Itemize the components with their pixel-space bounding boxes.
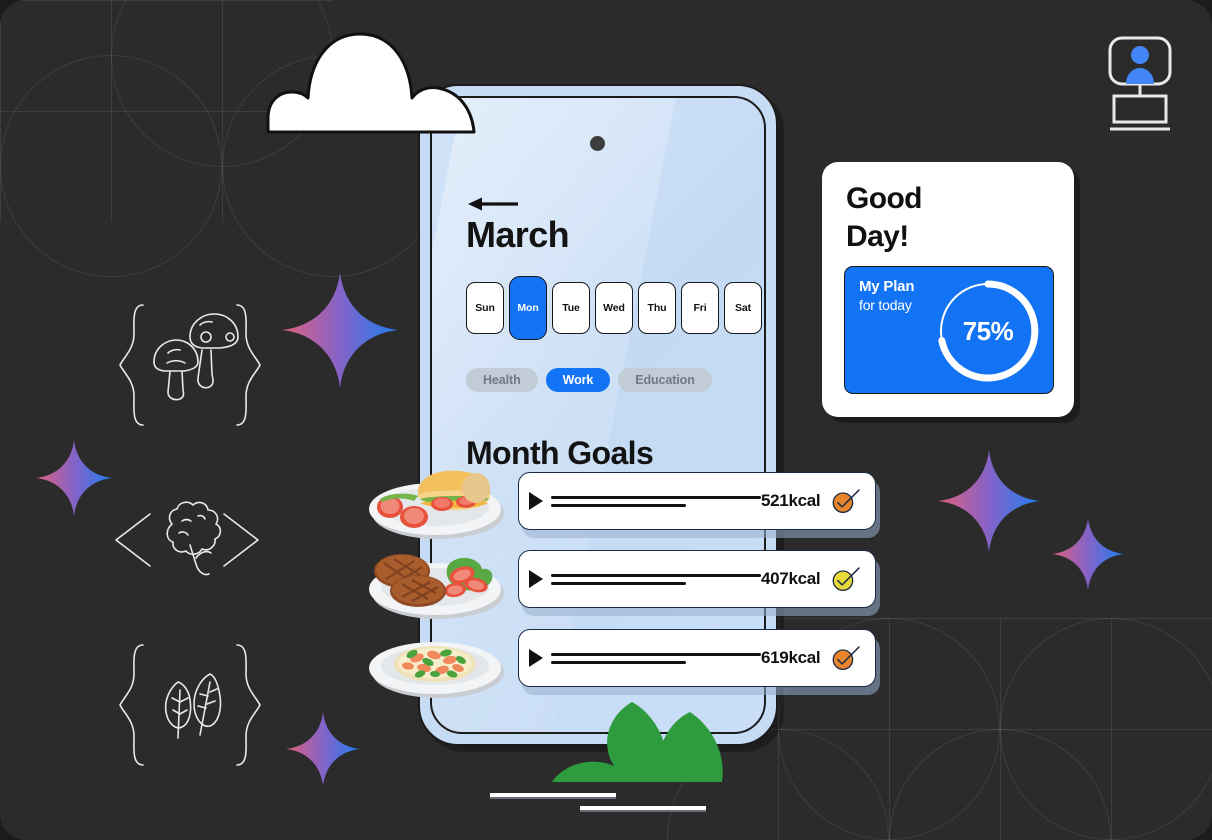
placeholder-line xyxy=(551,661,686,664)
pasta-plate-icon xyxy=(362,622,508,702)
day-chip-sat[interactable]: Sat xyxy=(724,282,762,334)
play-icon[interactable] xyxy=(529,570,543,588)
greeting-line-1: Good xyxy=(846,180,922,218)
goal-text-placeholder xyxy=(551,648,761,669)
sparkle-icon xyxy=(286,712,360,786)
cloud-shape xyxy=(262,28,494,140)
day-chip-tue[interactable]: Tue xyxy=(552,282,590,334)
progress-ring: 75% xyxy=(929,270,1047,394)
sparkle-icon xyxy=(938,450,1040,552)
good-day-card: Good Day! My Plan for today 75% xyxy=(822,162,1074,417)
day-chip-sun[interactable]: Sun xyxy=(466,282,504,334)
bottom-line xyxy=(580,806,706,810)
sparkle-icon xyxy=(36,440,112,516)
placeholder-line xyxy=(551,653,761,656)
goal-row[interactable]: 521kcal xyxy=(518,472,876,530)
day-chip-mon[interactable]: Mon xyxy=(509,276,547,340)
plan-title: My Plan xyxy=(859,278,914,297)
grid-circle xyxy=(889,729,1111,840)
grid-circle xyxy=(0,55,222,277)
check-circle-icon[interactable] xyxy=(832,564,861,594)
leaf-cluster-shape xyxy=(550,694,750,790)
illustration-canvas: March Sun Mon Tue Wed Thu Fri Sat Health… xyxy=(0,0,1212,840)
day-selector: Sun Mon Tue Wed Thu Fri Sat xyxy=(466,276,762,340)
greeting-text: Good Day! xyxy=(846,180,922,256)
category-filter: Health Work Education xyxy=(466,368,712,392)
back-arrow-icon[interactable] xyxy=(468,194,520,214)
check-circle-icon[interactable] xyxy=(832,486,861,516)
goal-text-placeholder xyxy=(551,569,761,590)
category-chip-education[interactable]: Education xyxy=(618,368,712,392)
play-icon[interactable] xyxy=(529,492,543,510)
broccoli-icon xyxy=(112,488,278,592)
category-chip-health[interactable]: Health xyxy=(466,368,538,392)
progress-percent-label: 75% xyxy=(929,270,1047,392)
day-chip-wed[interactable]: Wed xyxy=(595,282,633,334)
bottom-line xyxy=(490,793,616,797)
category-chip-work[interactable]: Work xyxy=(546,368,611,392)
placeholder-line xyxy=(551,504,686,507)
goal-calories: 619kcal xyxy=(761,648,820,668)
placeholder-line xyxy=(551,582,686,585)
user-on-screen-icon[interactable] xyxy=(1104,36,1176,136)
goal-text-placeholder xyxy=(551,491,761,512)
steak-salad-plate-icon xyxy=(362,541,508,625)
sandwich-plate-icon xyxy=(362,455,508,545)
page-title: March xyxy=(466,214,569,256)
play-icon[interactable] xyxy=(529,649,543,667)
plan-subtitle: for today xyxy=(859,297,914,315)
spinach-leaves-icon xyxy=(118,640,262,770)
my-plan-panel[interactable]: My Plan for today 75% xyxy=(844,266,1054,394)
mushrooms-icon xyxy=(118,300,262,430)
day-chip-thu[interactable]: Thu xyxy=(638,282,676,334)
grid-circle xyxy=(1000,618,1212,840)
sparkle-icon xyxy=(282,272,398,388)
goal-calories: 407kcal xyxy=(761,569,820,589)
goal-row[interactable]: 407kcal xyxy=(518,550,876,608)
goal-calories: 521kcal xyxy=(761,491,820,511)
placeholder-line xyxy=(551,574,761,577)
goal-row[interactable]: 619kcal xyxy=(518,629,876,687)
check-circle-icon[interactable] xyxy=(832,643,861,673)
day-chip-fri[interactable]: Fri xyxy=(681,282,719,334)
placeholder-line xyxy=(551,496,761,499)
sparkle-icon xyxy=(1052,518,1124,590)
greeting-line-2: Day! xyxy=(846,218,922,256)
camera-dot-icon xyxy=(590,136,605,151)
plan-label: My Plan for today xyxy=(859,278,914,314)
